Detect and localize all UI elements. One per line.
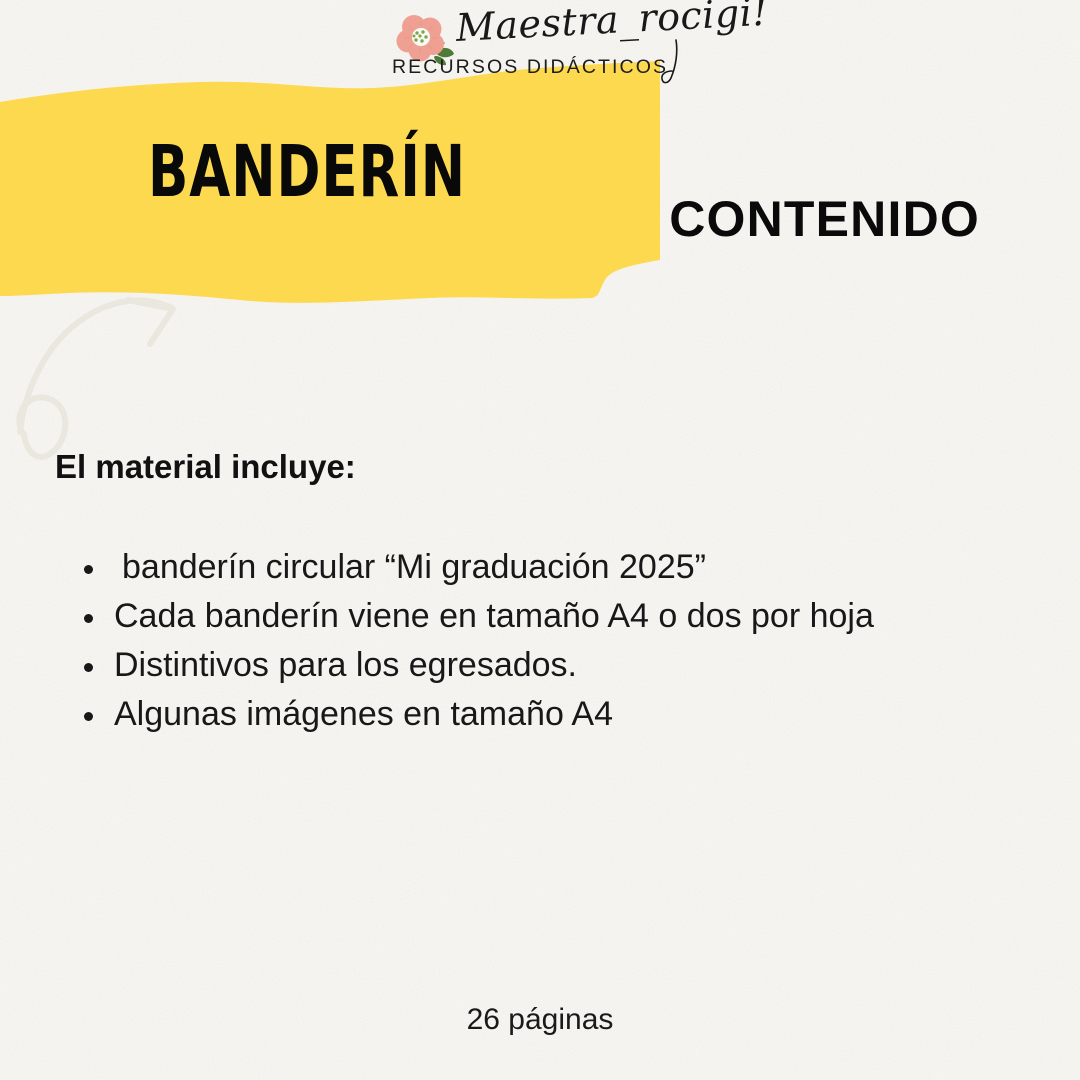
- bullet-dot-icon: [84, 663, 93, 672]
- list-item: Distintivos para los egresados.: [76, 641, 1036, 690]
- brand-logo: Maestra_rocigi! RECURSOS DIDÁCTICOS: [0, 8, 1080, 88]
- list-item: Algunas imágenes en tamaño A4: [76, 690, 1036, 739]
- includes-heading: El material incluye:: [55, 448, 356, 486]
- page-count-label: 26 páginas: [0, 1003, 1080, 1037]
- list-item: Cada banderín viene en tamaño A4 o dos p…: [76, 592, 1036, 641]
- logo-swash-icon: [658, 38, 688, 86]
- slide-canvas: BANDERÍN CONTENIDO: [0, 0, 1080, 1080]
- list-item-label: Algunas imágenes en tamaño A4: [114, 695, 613, 733]
- list-item-label: Distintivos para los egresados.: [114, 646, 577, 684]
- list-item-label: banderín circular “Mi graduación 2025”: [122, 548, 706, 586]
- material-bullet-list: banderín circular “Mi graduación 2025” C…: [76, 543, 1036, 739]
- brand-script-name: Maestra_rocigi!: [455, 0, 769, 50]
- list-item-label: Cada banderín viene en tamaño A4 o dos p…: [114, 597, 874, 635]
- brand-logo-inner: Maestra_rocigi! RECURSOS DIDÁCTICOS: [390, 8, 690, 86]
- bullet-dot-icon: [84, 614, 93, 623]
- content-block: El material incluye: banderín circular “…: [0, 0, 1080, 1080]
- bullet-dot-icon: [84, 712, 93, 721]
- brand-subtitle: RECURSOS DIDÁCTICOS: [392, 56, 668, 79]
- list-item: banderín circular “Mi graduación 2025”: [76, 543, 1036, 592]
- bullet-dot-icon: [84, 565, 93, 574]
